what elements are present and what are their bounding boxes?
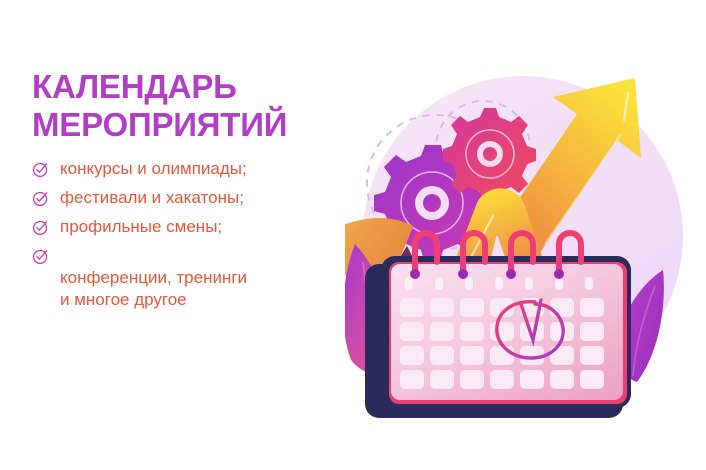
list-item-label: конференции, тренинги и многое другое — [60, 245, 247, 333]
check-circle-icon — [32, 190, 49, 207]
check-circle-icon — [32, 248, 49, 265]
list-item: профильные смены; — [32, 216, 352, 238]
list-item-label-line1: конференции, тренинги — [60, 268, 247, 287]
list-item: конкурсы и олимпиады; — [32, 158, 352, 180]
list-item-label: профильные смены; — [60, 216, 222, 238]
event-calendar-banner: КАЛЕНДАРЬ МЕРОПРИЯТИЙ конкурсы и олимпиа… — [0, 0, 706, 470]
page-title: КАЛЕНДАРЬ МЕРОПРИЯТИЙ — [32, 68, 352, 144]
list-item: конференции, тренинги и многое другое — [32, 245, 352, 333]
list-item-label: конкурсы и олимпиады; — [60, 158, 247, 180]
check-circle-icon — [32, 161, 49, 178]
check-circle-icon — [32, 219, 49, 236]
list-item-label: фестивали и хакатоны; — [60, 187, 244, 209]
text-panel: КАЛЕНДАРЬ МЕРОПРИЯТИЙ конкурсы и олимпиа… — [32, 68, 352, 340]
gear-small-icon — [443, 108, 536, 201]
feature-list: конкурсы и олимпиады; фестивали и хакато… — [32, 158, 352, 333]
event-calendar-illustration — [345, 48, 695, 428]
list-item: фестивали и хакатоны; — [32, 187, 352, 209]
list-item-label-line2: и многое другое — [60, 289, 247, 311]
